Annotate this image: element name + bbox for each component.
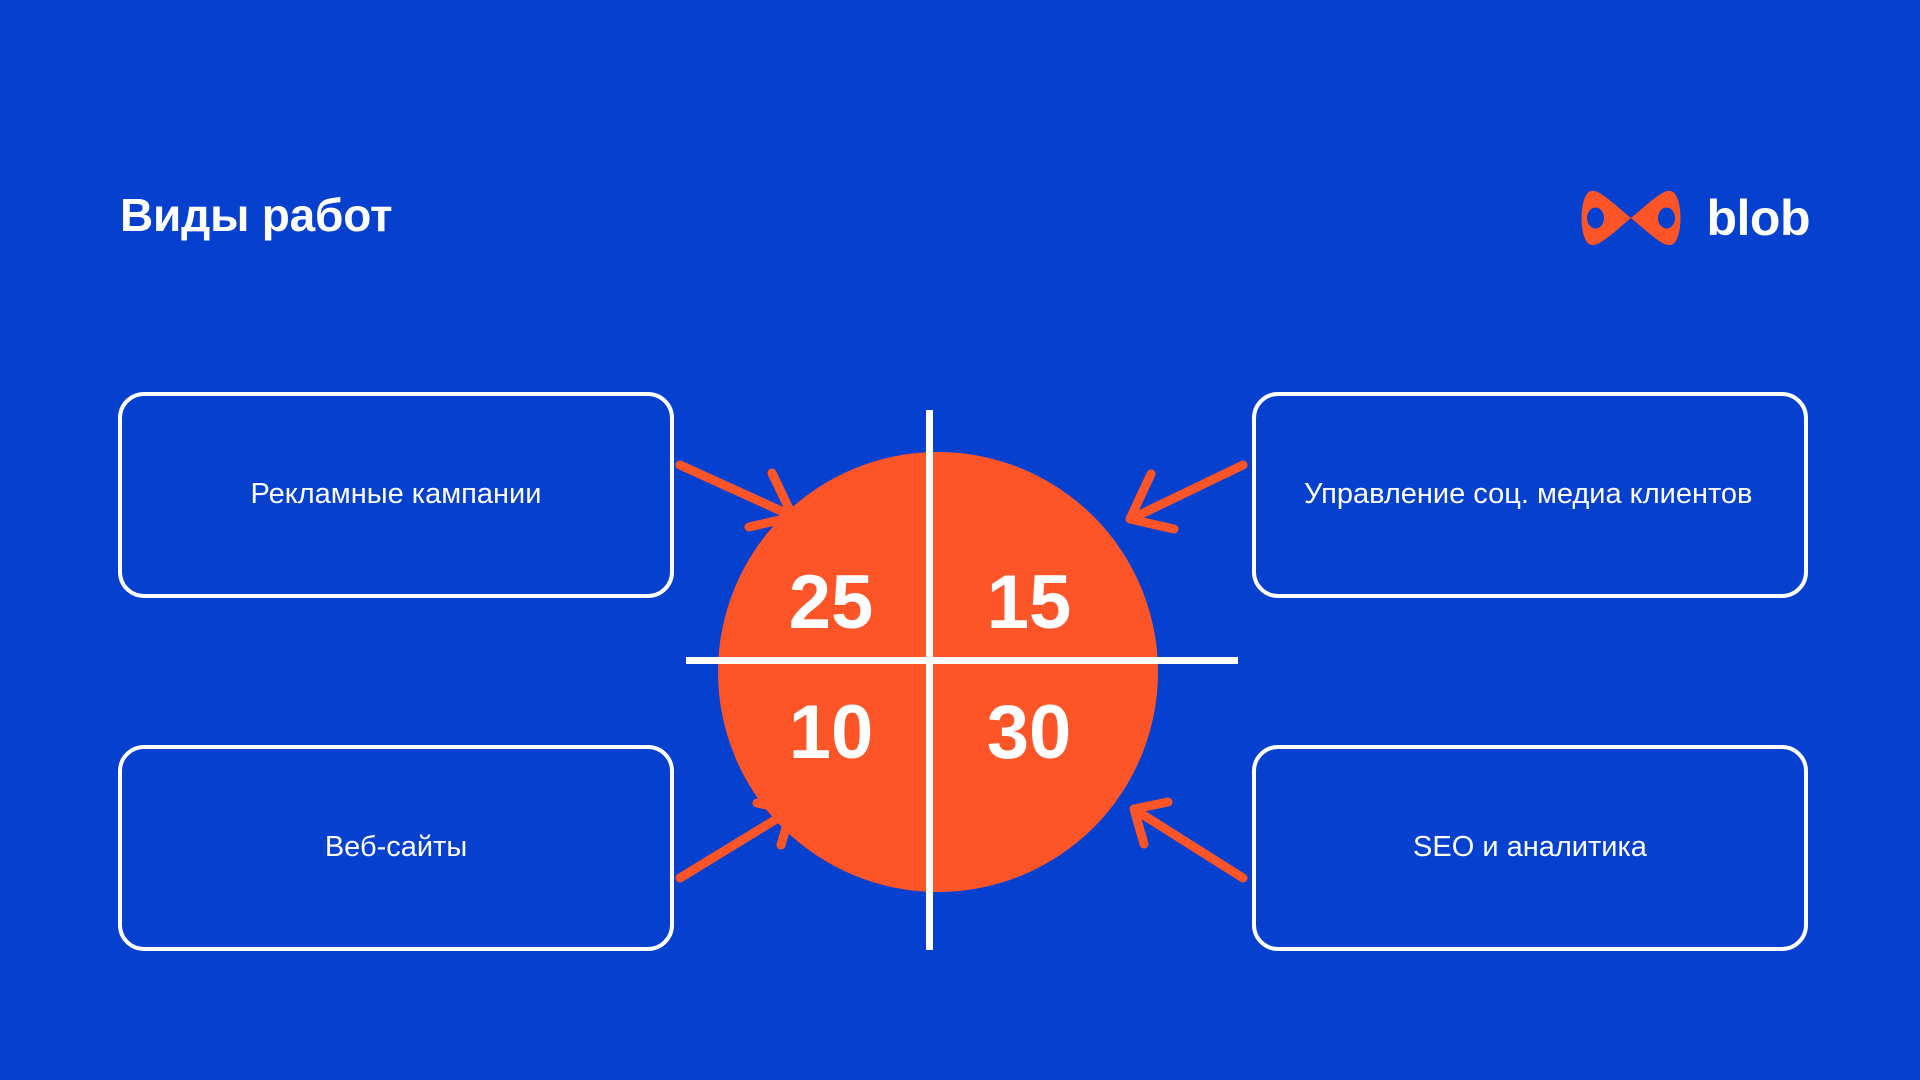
card-advertising-campaigns-label: Рекламные кампании <box>170 475 622 514</box>
card-seo-analytics-label: SEO и аналитика <box>1304 828 1756 867</box>
pie-diagram: 25 15 10 30 <box>686 410 1238 950</box>
card-social-media-management-label: Управление соц. медиа клиентов <box>1304 475 1752 514</box>
card-seo-analytics[interactable]: SEO и аналитика <box>1252 745 1808 951</box>
quadrant-value-bottom-left: 10 <box>746 695 916 771</box>
slide-canvas: Виды работ blob <box>0 0 1920 1080</box>
pie-circle <box>718 452 1158 892</box>
quadrant-value-top-left: 25 <box>746 565 916 641</box>
card-websites-label: Веб-сайты <box>170 828 622 867</box>
infinity-bowtie-icon <box>1580 190 1684 246</box>
page-title: Виды работ <box>120 188 392 242</box>
card-advertising-campaigns[interactable]: Рекламные кампании <box>118 392 674 598</box>
brand-logo: blob <box>1580 190 1810 246</box>
pie-divider-horizontal <box>686 657 1238 664</box>
quadrant-value-top-right: 15 <box>944 565 1114 641</box>
card-social-media-management[interactable]: Управление соц. медиа клиентов <box>1252 392 1808 598</box>
pie-divider-vertical <box>926 410 933 950</box>
card-websites[interactable]: Веб-сайты <box>118 745 674 951</box>
brand-name: blob <box>1706 193 1810 243</box>
quadrant-value-bottom-right: 30 <box>944 695 1114 771</box>
